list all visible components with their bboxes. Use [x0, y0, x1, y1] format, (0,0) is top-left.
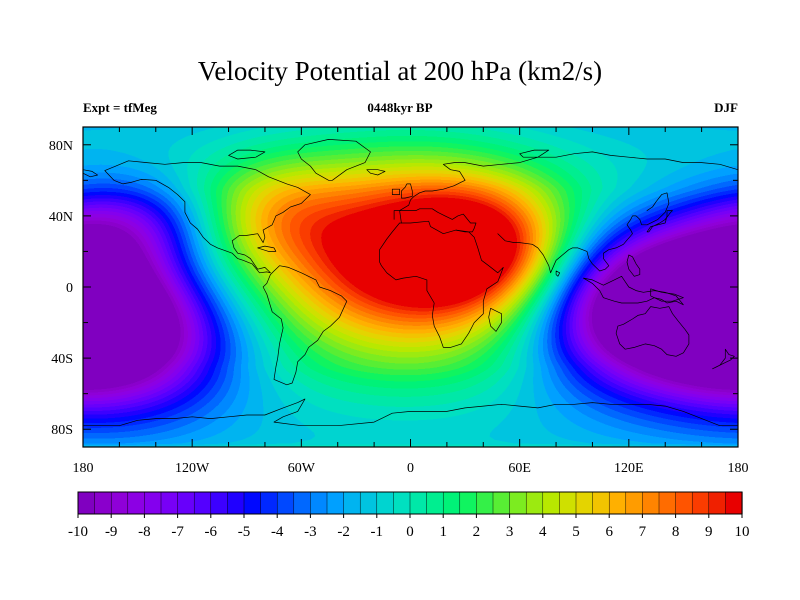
colorbar-tick-label: -6: [205, 524, 218, 540]
colorbar-cell[interactable]: [244, 492, 261, 514]
colorbar-cells[interactable]: [78, 492, 742, 514]
colorbar-cell[interactable]: [476, 492, 493, 514]
y-tick-label: 80S: [51, 423, 73, 438]
x-tick-label: 120W: [175, 461, 210, 476]
colorbar-cell[interactable]: [659, 492, 676, 514]
colorbar-cell[interactable]: [161, 492, 178, 514]
colorbar-tick-label: -1: [371, 524, 384, 540]
colorbar-cell[interactable]: [593, 492, 610, 514]
colorbar-tick-label: -4: [271, 524, 284, 540]
page-title: Velocity Potential at 200 hPa (km2/s): [198, 56, 602, 86]
colorbar-tick-label: 3: [506, 524, 514, 540]
colorbar-cell[interactable]: [642, 492, 659, 514]
colorbar-cell[interactable]: [261, 492, 278, 514]
colorbar-cell[interactable]: [609, 492, 626, 514]
colorbar-cell[interactable]: [510, 492, 527, 514]
colorbar-cell[interactable]: [460, 492, 477, 514]
colorbar-tick-label: 8: [672, 524, 680, 540]
colorbar-tick-label: 5: [572, 524, 580, 540]
map-plot-area: 180120W60W060E120E180 80N40N040S80S: [49, 127, 749, 476]
season-label: DJF: [714, 100, 738, 115]
colorbar-cell[interactable]: [526, 492, 543, 514]
colorbar-cell[interactable]: [676, 492, 693, 514]
colorbar-cell[interactable]: [128, 492, 145, 514]
colorbar-cell[interactable]: [194, 492, 211, 514]
colorbar-tick-label: 10: [735, 524, 750, 540]
colorbar-cell[interactable]: [427, 492, 444, 514]
colorbar-cell[interactable]: [493, 492, 510, 514]
colorbar-cell[interactable]: [277, 492, 294, 514]
colorbar-tick-label: -9: [105, 524, 118, 540]
colorbar-cell[interactable]: [626, 492, 643, 514]
y-tick-label: 0: [66, 281, 73, 296]
colorbar-cell[interactable]: [443, 492, 460, 514]
colorbar-cell[interactable]: [576, 492, 593, 514]
colorbar-tick-label: 1: [439, 524, 447, 540]
colorbar-cell[interactable]: [95, 492, 112, 514]
colorbar-cell[interactable]: [310, 492, 327, 514]
colorbar-cell[interactable]: [344, 492, 361, 514]
colorbar-cell[interactable]: [111, 492, 128, 514]
colorbar-tick-label: -2: [337, 524, 350, 540]
colorbar-tick-marks: [78, 514, 742, 518]
colorbar-cell[interactable]: [294, 492, 311, 514]
colorbar-tick-label: -8: [138, 524, 151, 540]
colorbar-cell[interactable]: [377, 492, 394, 514]
colorbar-tick-label: -7: [171, 524, 184, 540]
x-tick-label: 60E: [508, 461, 531, 476]
x-tick-label: 0: [407, 461, 414, 476]
colorbar-cell[interactable]: [393, 492, 410, 514]
colorbar-cell[interactable]: [327, 492, 344, 514]
colorbar-tick-label: 4: [539, 524, 547, 540]
colorbar-tick-label: -5: [238, 524, 251, 540]
colorbar-tick-label: -10: [68, 524, 88, 540]
x-tick-label: 120E: [614, 461, 644, 476]
x-tick-label: 180: [728, 461, 749, 476]
contour-field: [83, 127, 738, 447]
colorbar-tick-label: -3: [304, 524, 317, 540]
colorbar-tick-label: 2: [473, 524, 481, 540]
velocity-potential-figure: Velocity Potential at 200 hPa (km2/s) 04…: [0, 0, 800, 600]
colorbar-cell[interactable]: [725, 492, 742, 514]
colorbar-cell[interactable]: [178, 492, 195, 514]
y-tick-label: 40N: [49, 210, 73, 225]
subtitle-time: 0448kyr BP: [367, 100, 432, 115]
y-tick-label: 80N: [49, 139, 73, 154]
colorbar-cell[interactable]: [211, 492, 228, 514]
experiment-label: Expt = tfMeg: [83, 100, 157, 115]
colorbar-cell[interactable]: [78, 492, 95, 514]
colorbar-cell[interactable]: [692, 492, 709, 514]
colorbar-cell[interactable]: [360, 492, 377, 514]
y-tick-label: 40S: [51, 352, 73, 367]
colorbar-tick-label: 7: [639, 524, 647, 540]
x-tick-label: 60W: [288, 461, 316, 476]
colorbar-cell[interactable]: [144, 492, 161, 514]
colorbar-tick-label: 9: [705, 524, 713, 540]
colorbar-tick-label: 0: [406, 524, 414, 540]
x-tick-label: 180: [73, 461, 94, 476]
colorbar-cell[interactable]: [559, 492, 576, 514]
colorbar-cell[interactable]: [227, 492, 244, 514]
colorbar-cell[interactable]: [410, 492, 427, 514]
colorbar-cell[interactable]: [709, 492, 726, 514]
colorbar-cell[interactable]: [543, 492, 560, 514]
colorbar-tick-label: 6: [605, 524, 613, 540]
